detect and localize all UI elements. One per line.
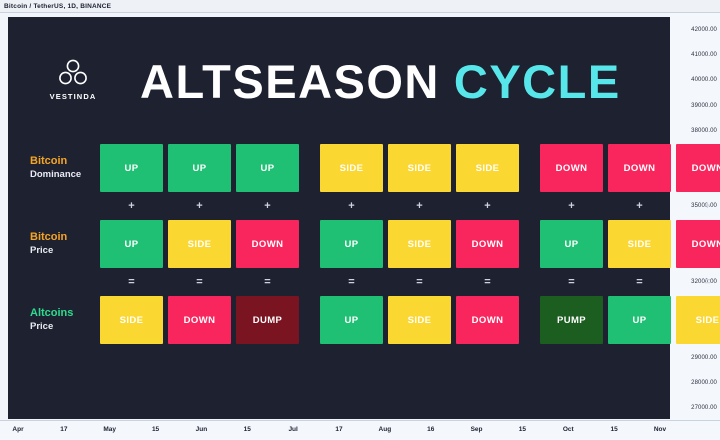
- price-tick: 38000.00: [691, 128, 717, 134]
- matrix-cell-up[interactable]: UP: [100, 220, 163, 268]
- matrix-cell-up[interactable]: UP: [540, 220, 603, 268]
- matrix-cell-down[interactable]: DOWN: [236, 220, 299, 268]
- operator-group-3: +++: [540, 201, 720, 212]
- operator-symbol: +: [676, 201, 720, 212]
- matrix-cells: UPSIDEDOWNUPSIDEDOWNUPSIDEDOWN: [100, 220, 720, 268]
- matrix-group-1: SIDEDOWNDUMP: [100, 296, 299, 344]
- page-title: ALTSEASONCYCLE: [140, 58, 621, 105]
- matrix-cell-down[interactable]: DOWN: [676, 220, 720, 268]
- time-tick: 17: [335, 426, 342, 433]
- brand-logo: VESTINDA: [36, 59, 110, 101]
- operator-symbol: +: [388, 201, 451, 212]
- infographic-panel: VESTINDA ALTSEASONCYCLE BitcoinDominance…: [8, 17, 670, 419]
- brand-name: VESTINDA: [50, 92, 97, 101]
- matrix-cell-side[interactable]: SIDE: [388, 220, 451, 268]
- matrix-cell-side[interactable]: SIDE: [608, 220, 671, 268]
- row-label-bitcoin-price: BitcoinPrice: [16, 231, 100, 256]
- time-tick: Oct: [563, 426, 574, 433]
- cycle-matrix: BitcoinDominanceUPUPUPSIDESIDESIDEDOWNDO…: [16, 139, 670, 349]
- time-tick: 15: [152, 426, 159, 433]
- operator-symbol: =: [456, 277, 519, 288]
- matrix-cell-up[interactable]: UP: [320, 296, 383, 344]
- operator-group-3: ===: [540, 277, 720, 288]
- operator-cells: =========: [100, 277, 720, 288]
- matrix-cell-down[interactable]: DOWN: [168, 296, 231, 344]
- operator-symbol: +: [320, 201, 383, 212]
- operator-row-plus: +++++++++: [16, 197, 670, 215]
- operator-symbol: =: [388, 277, 451, 288]
- operator-group-2: +++: [320, 201, 519, 212]
- price-tick: 27000.00: [691, 405, 717, 411]
- matrix-group-2: UPSIDEDOWN: [320, 296, 519, 344]
- matrix-cell-side[interactable]: SIDE: [388, 144, 451, 192]
- time-tick: May: [103, 426, 116, 433]
- chart-frame: 42000.0041000.0040000.0039000.0038000.00…: [0, 13, 720, 440]
- row-label-secondary: Price: [30, 245, 100, 257]
- matrix-cell-pump[interactable]: PUMP: [540, 296, 603, 344]
- matrix-cell-side[interactable]: SIDE: [320, 144, 383, 192]
- time-tick: 15: [611, 426, 618, 433]
- matrix-cell-up[interactable]: UP: [236, 144, 299, 192]
- matrix-cell-up[interactable]: UP: [168, 144, 231, 192]
- price-tick: 41000.00: [691, 52, 717, 58]
- operator-symbol: +: [100, 201, 163, 212]
- operator-symbol: +: [456, 201, 519, 212]
- operator-symbol: =: [168, 277, 231, 288]
- row-label-primary: Bitcoin: [30, 155, 100, 168]
- title-word-cycle: CYCLE: [454, 55, 621, 108]
- matrix-row-bitcoin-dominance: BitcoinDominanceUPUPUPSIDESIDESIDEDOWNDO…: [16, 139, 670, 197]
- operator-symbol: +: [236, 201, 299, 212]
- matrix-group-2: SIDESIDESIDE: [320, 144, 519, 192]
- time-tick: 16: [427, 426, 434, 433]
- matrix-cell-up[interactable]: UP: [608, 296, 671, 344]
- row-label-secondary: Price: [30, 321, 100, 333]
- time-tick: 15: [244, 426, 251, 433]
- operator-symbol: +: [168, 201, 231, 212]
- matrix-cell-down[interactable]: DOWN: [456, 220, 519, 268]
- time-tick: Nov: [654, 426, 666, 433]
- time-tick: Jul: [288, 426, 297, 433]
- price-tick: 42000.00: [691, 27, 717, 33]
- matrix-cells: SIDEDOWNDUMPUPSIDEDOWNPUMPUPSIDE: [100, 296, 720, 344]
- matrix-cell-dump[interactable]: DUMP: [236, 296, 299, 344]
- row-label-bitcoin-dominance: BitcoinDominance: [16, 155, 100, 180]
- operator-symbol: =: [540, 277, 603, 288]
- operator-cells: +++++++++: [100, 201, 720, 212]
- matrix-cell-side[interactable]: SIDE: [456, 144, 519, 192]
- time-tick: Apr: [12, 426, 23, 433]
- matrix-cell-side[interactable]: SIDE: [100, 296, 163, 344]
- matrix-group-1: UPUPUP: [100, 144, 299, 192]
- price-tick: 29000.00: [691, 355, 717, 361]
- price-tick: 40000.00: [691, 77, 717, 83]
- matrix-cell-down[interactable]: DOWN: [608, 144, 671, 192]
- operator-symbol: +: [608, 201, 671, 212]
- price-tick: 39000.00: [691, 103, 717, 109]
- row-label-primary: Altcoins: [30, 307, 100, 320]
- altseason-cycle-screenshot: Bitcoin / TetherUS, 1D, BINANCE 42000.00…: [0, 0, 720, 440]
- price-axis[interactable]: 42000.0041000.0040000.0039000.0038000.00…: [670, 13, 720, 423]
- row-label-primary: Bitcoin: [30, 231, 100, 244]
- operator-symbol: =: [608, 277, 671, 288]
- operator-symbol: =: [320, 277, 383, 288]
- vestinda-triangle-circles-logo: [56, 59, 90, 87]
- matrix-cell-side[interactable]: SIDE: [168, 220, 231, 268]
- matrix-cell-down[interactable]: DOWN: [540, 144, 603, 192]
- matrix-cell-up[interactable]: UP: [100, 144, 163, 192]
- time-axis[interactable]: Apr17May15Jun15Jul17Aug16Sep15Oct15Nov: [0, 420, 720, 440]
- matrix-cell-side[interactable]: SIDE: [676, 296, 720, 344]
- symbol-label: Bitcoin / TetherUS, 1D, BINANCE: [4, 3, 111, 10]
- symbol-bar[interactable]: Bitcoin / TetherUS, 1D, BINANCE: [0, 0, 720, 13]
- matrix-cell-up[interactable]: UP: [320, 220, 383, 268]
- price-tick: 28000.00: [691, 380, 717, 386]
- time-tick: 17: [60, 426, 67, 433]
- operator-symbol: +: [540, 201, 603, 212]
- operator-symbol: =: [236, 277, 299, 288]
- operator-row-equals: =========: [16, 273, 670, 291]
- time-tick: Jun: [196, 426, 208, 433]
- operator-symbol: =: [676, 277, 720, 288]
- matrix-cells: UPUPUPSIDESIDESIDEDOWNDOWNDOWN: [100, 144, 720, 192]
- matrix-group-1: UPSIDEDOWN: [100, 220, 299, 268]
- operator-group-2: ===: [320, 277, 519, 288]
- matrix-group-2: UPSIDEDOWN: [320, 220, 519, 268]
- time-tick: Sep: [471, 426, 483, 433]
- operator-group-1: +++: [100, 201, 299, 212]
- operator-group-1: ===: [100, 277, 299, 288]
- matrix-group-3: UPSIDEDOWN: [540, 220, 720, 268]
- time-tick: 15: [519, 426, 526, 433]
- row-label-secondary: Dominance: [30, 169, 100, 181]
- matrix-cell-down[interactable]: DOWN: [456, 296, 519, 344]
- matrix-group-3: PUMPUPSIDE: [540, 296, 720, 344]
- row-label-altcoins-price: AltcoinsPrice: [16, 307, 100, 332]
- matrix-group-3: DOWNDOWNDOWN: [540, 144, 720, 192]
- matrix-row-bitcoin-price: BitcoinPriceUPSIDEDOWNUPSIDEDOWNUPSIDEDO…: [16, 215, 670, 273]
- time-tick: Aug: [379, 426, 392, 433]
- matrix-row-altcoins-price: AltcoinsPriceSIDEDOWNDUMPUPSIDEDOWNPUMPU…: [16, 291, 670, 349]
- title-word-altseason: ALTSEASON: [140, 55, 440, 108]
- matrix-cell-side[interactable]: SIDE: [388, 296, 451, 344]
- matrix-cell-down[interactable]: DOWN: [676, 144, 720, 192]
- operator-symbol: =: [100, 277, 163, 288]
